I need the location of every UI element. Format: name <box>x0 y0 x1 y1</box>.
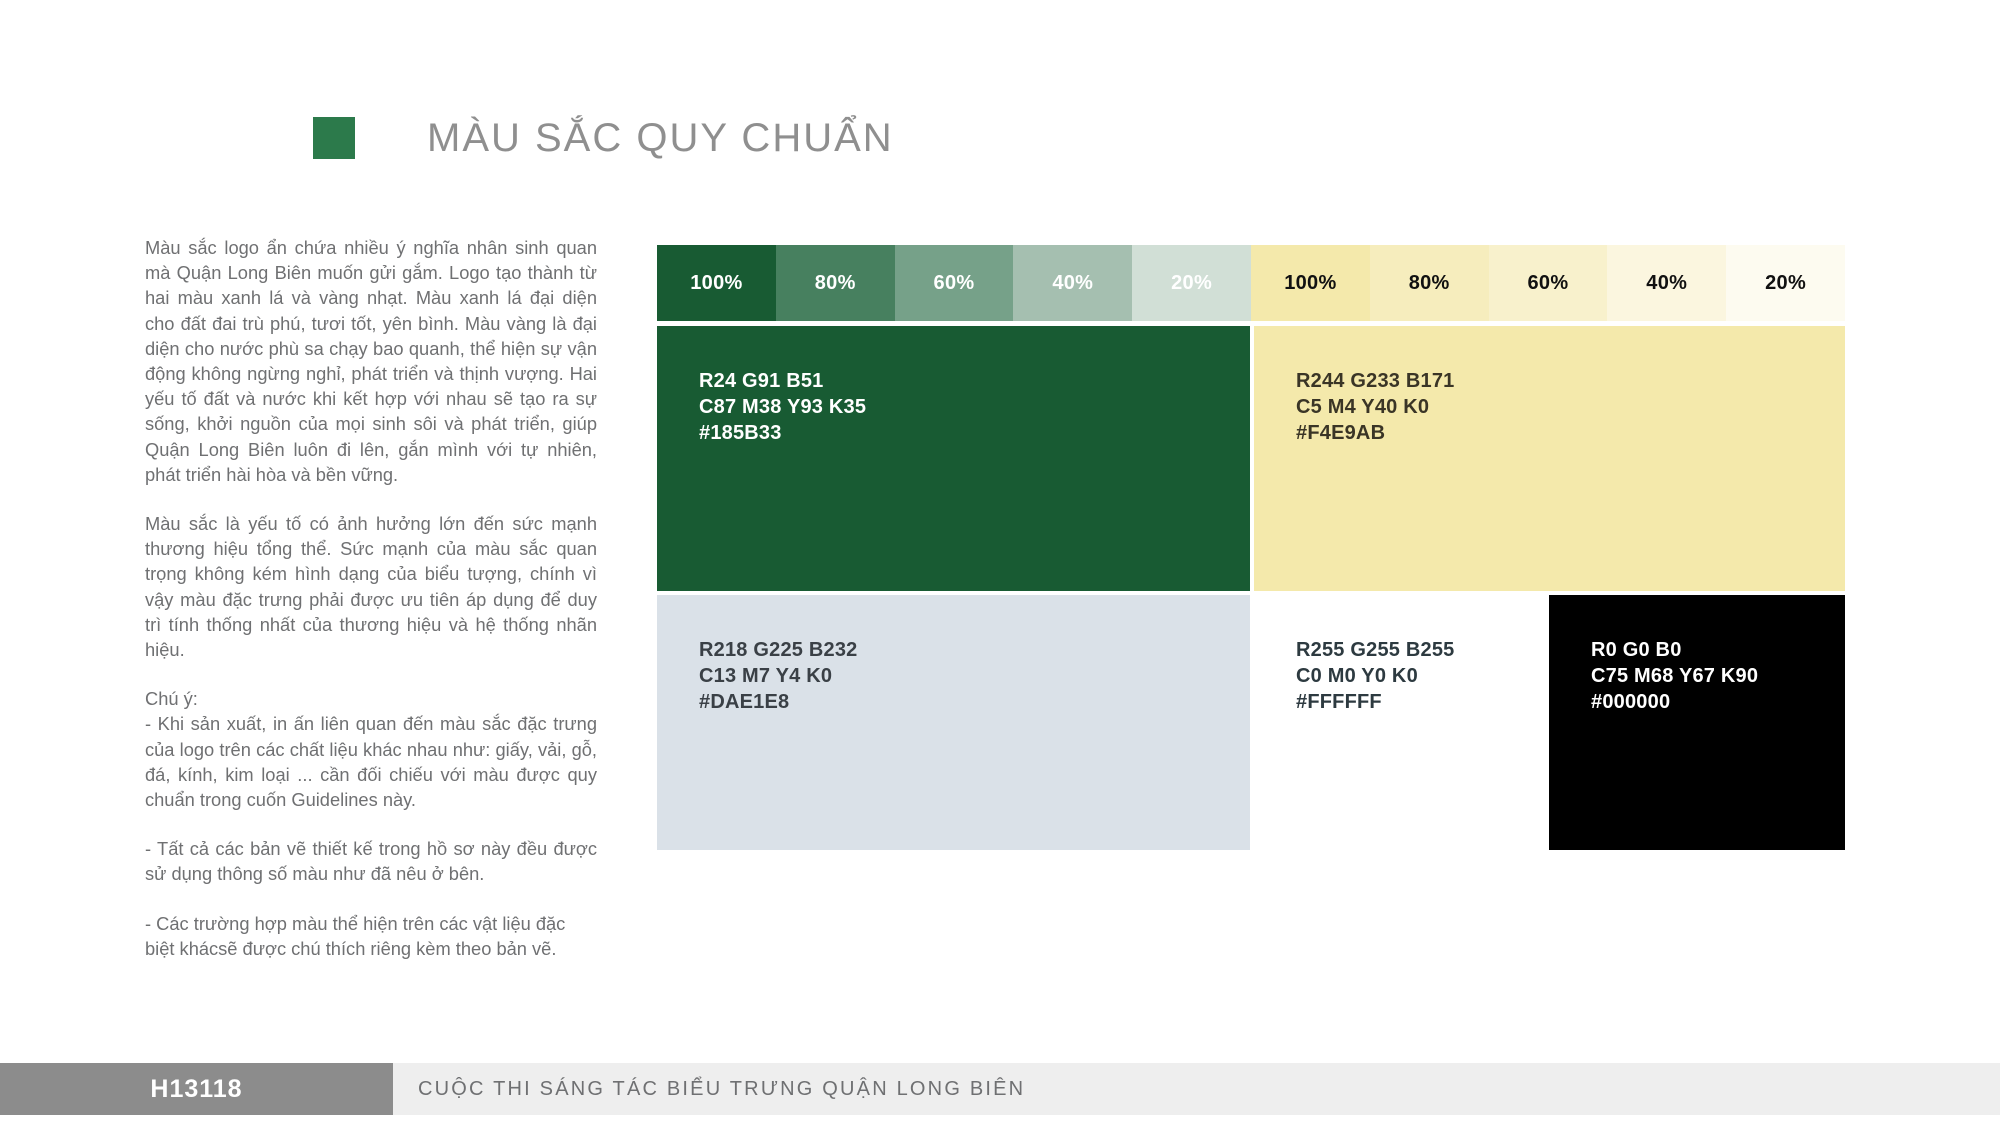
page-title: MÀU SẮC QUY CHUẨN <box>427 118 894 158</box>
yellow-tint-100: 100% <box>1251 245 1370 321</box>
green-tint-60: 60% <box>895 245 1014 321</box>
color-block-gray-specs: R218 G225 B232 C13 M7 Y4 K0 #DAE1E8 <box>699 637 1250 715</box>
note-item-2: - Tất cả các bản vẽ thiết kế trong hồ sơ… <box>145 836 597 886</box>
green-tint-20-label: 20% <box>1171 272 1212 295</box>
yellow-tint-100-label: 100% <box>1284 272 1336 295</box>
color-block-black: R0 G0 B0 C75 M68 Y67 K90 #000000 <box>1549 595 1845 850</box>
footer-code-label: H13118 <box>150 1075 242 1104</box>
green-tint-20: 20% <box>1132 245 1251 321</box>
yellow-tint-20-label: 20% <box>1765 272 1806 295</box>
yellow-tint-60: 60% <box>1489 245 1608 321</box>
description-column: Màu sắc logo ẩn chứa nhiều ý nghĩa nhân … <box>145 235 597 961</box>
footer-code-box: H13118 <box>0 1063 393 1115</box>
green-tint-80-label: 80% <box>815 272 856 295</box>
color-block-yellow-specs: R244 G233 B171 C5 M4 Y40 K0 #F4E9AB <box>1296 368 1845 446</box>
header-green-square-icon <box>313 117 355 159</box>
note-item-3: - Các trường hợp màu thể hiện trên các v… <box>145 911 597 961</box>
page-header: MÀU SẮC QUY CHUẨN <box>313 117 894 159</box>
green-tint-40: 40% <box>1013 245 1132 321</box>
footer-title-label: CUỘC THI SÁNG TÁC BIỂU TRƯNG QUẬN LONG B… <box>393 1063 1025 1115</box>
color-block-green-specs: R24 G91 B51 C87 M38 Y93 K35 #185B33 <box>699 368 1250 446</box>
color-block-green: R24 G91 B51 C87 M38 Y93 K35 #185B33 <box>657 326 1250 591</box>
tint-percentage-row: 100% 80% 60% 40% 20% 100% 80% 60% 40% 20… <box>657 245 1845 321</box>
yellow-tint-60-label: 60% <box>1528 272 1569 295</box>
note-item-1: - Khi sản xuất, in ấn liên quan đến màu … <box>145 711 597 812</box>
slide-page: MÀU SẮC QUY CHUẨN Màu sắc logo ẩn chứa n… <box>0 0 2000 1125</box>
yellow-tint-40: 40% <box>1607 245 1726 321</box>
color-block-black-specs: R0 G0 B0 C75 M68 Y67 K90 #000000 <box>1591 637 1845 715</box>
green-tint-60-label: 60% <box>934 272 975 295</box>
color-block-white-specs: R255 G255 B255 C0 M0 Y0 K0 #FFFFFF <box>1296 637 1545 715</box>
paragraph-intro: Màu sắc logo ẩn chứa nhiều ý nghĩa nhân … <box>145 235 597 487</box>
page-footer: H13118 CUỘC THI SÁNG TÁC BIỂU TRƯNG QUẬN… <box>0 1063 2000 1115</box>
green-tint-40-label: 40% <box>1052 272 1093 295</box>
color-block-gray: R218 G225 B232 C13 M7 Y4 K0 #DAE1E8 <box>657 595 1250 850</box>
color-grid: 100% 80% 60% 40% 20% 100% 80% 60% 40% 20… <box>657 245 1845 927</box>
color-block-white: R255 G255 B255 C0 M0 Y0 K0 #FFFFFF <box>1254 595 1545 850</box>
color-block-yellow: R244 G233 B171 C5 M4 Y40 K0 #F4E9AB <box>1254 326 1845 591</box>
yellow-tint-20: 20% <box>1726 245 1845 321</box>
green-tint-80: 80% <box>776 245 895 321</box>
yellow-tint-40-label: 40% <box>1646 272 1687 295</box>
yellow-tint-80: 80% <box>1370 245 1489 321</box>
green-tint-100-label: 100% <box>690 272 742 295</box>
yellow-tint-80-label: 80% <box>1409 272 1450 295</box>
paragraph-brand-strength: Màu sắc là yếu tố có ảnh hưởng lớn đến s… <box>145 511 597 662</box>
green-tint-100: 100% <box>657 245 776 321</box>
notes-heading: Chú ý: <box>145 686 597 711</box>
